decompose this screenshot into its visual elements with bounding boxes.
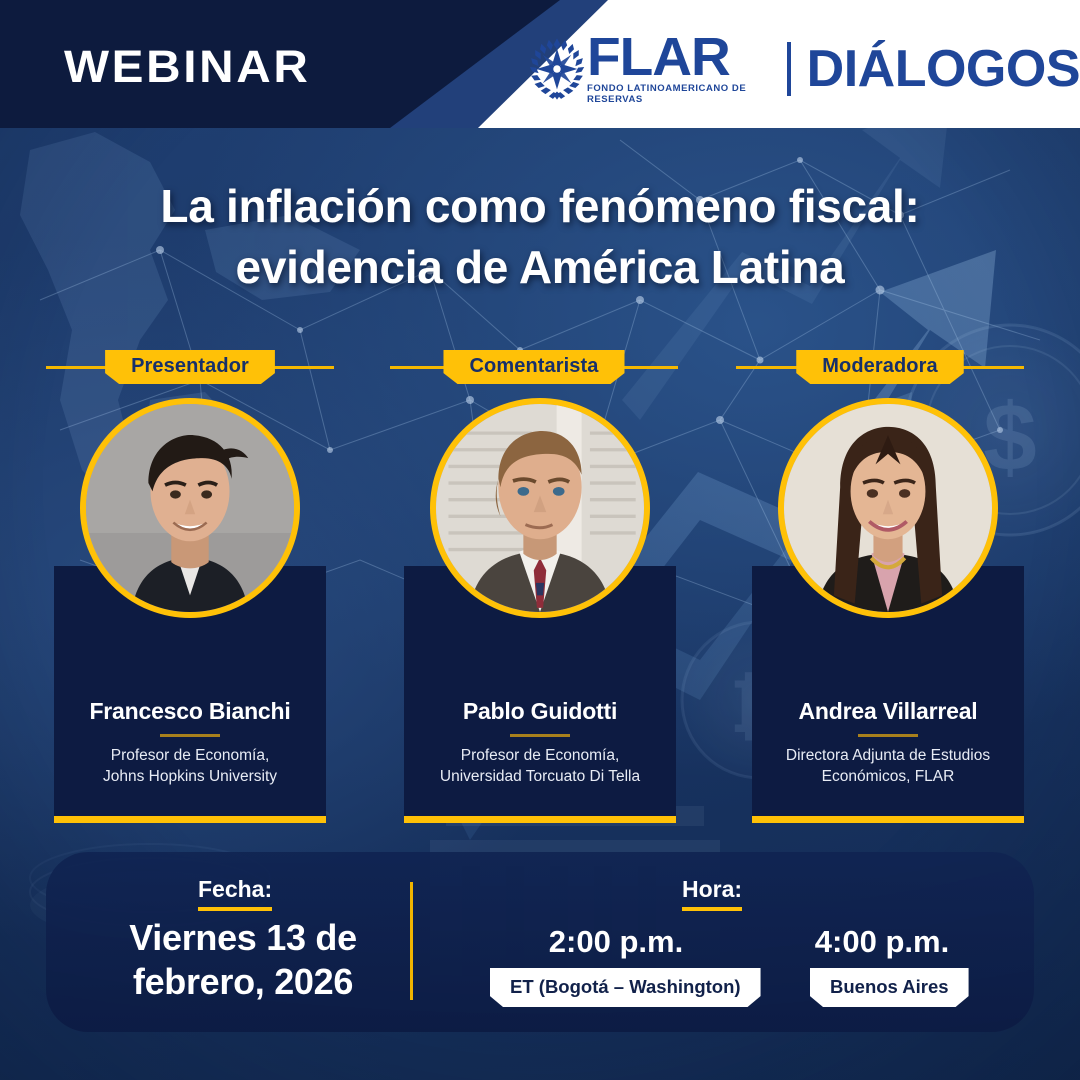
portrait-francesco-bianchi bbox=[86, 404, 294, 612]
time-label: Hora: bbox=[682, 876, 742, 911]
event-date-line-1: Viernes 13 de bbox=[78, 916, 408, 960]
speaker-role: Directora Adjunta de Estudios Económicos… bbox=[758, 746, 1018, 788]
page-title: La inflación como fenómeno fiscal: evide… bbox=[0, 176, 1080, 297]
flar-wordmark-block: FLAR FONDO LATINOAMERICANO DE RESERVAS bbox=[587, 34, 769, 105]
header-bar: WEBINAR bbox=[0, 0, 1080, 128]
event-details-panel: Fecha: Viernes 13 de febrero, 2026 Hora:… bbox=[46, 852, 1034, 1032]
role-badge-comentarista: Comentarista bbox=[443, 350, 624, 384]
flar-compass-laurel-emblem bbox=[523, 35, 591, 103]
speaker-role: Profesor de Economía, Johns Hopkins Univ… bbox=[60, 746, 320, 788]
event-date-line-2: febrero, 2026 bbox=[78, 960, 408, 1004]
speaker-role-line-1: Directora Adjunta de Estudios bbox=[758, 746, 1018, 767]
speaker-gold-bar bbox=[404, 816, 676, 823]
timezone-chip-buenos-aires: Buenos Aires bbox=[810, 968, 969, 1007]
badge-cell-comentarista: Comentarista bbox=[390, 350, 678, 384]
role-badge-moderadora: Moderadora bbox=[796, 350, 963, 384]
speaker-role-line-1: Profesor de Economía, bbox=[60, 746, 320, 767]
avatar-andrea-villarreal bbox=[778, 398, 998, 618]
speaker-name: Andrea Villarreal bbox=[752, 698, 1024, 725]
avatar-pablo-guidotti bbox=[430, 398, 650, 618]
speaker-name-divider bbox=[510, 734, 570, 737]
webinar-label: WEBINAR bbox=[64, 41, 310, 93]
portrait-andrea-villarreal bbox=[784, 404, 992, 612]
role-badges-row: Presentador Comentarista Moderadora bbox=[0, 350, 1080, 384]
speaker-role-line-2: Económicos, FLAR bbox=[758, 767, 1018, 788]
logo-divider bbox=[787, 42, 790, 96]
flar-logo: FLAR FONDO LATINOAMERICANO DE RESERVAS D… bbox=[523, 34, 1080, 105]
role-badge-presentador: Presentador bbox=[105, 350, 275, 384]
title-line-2: evidencia de América Latina bbox=[0, 237, 1080, 298]
speaker-role-line-1: Profesor de Economía, bbox=[410, 746, 670, 767]
badge-cell-presentador: Presentador bbox=[46, 350, 334, 384]
speaker-role-line-2: Universidad Torcuato Di Tella bbox=[410, 767, 670, 788]
speaker-role: Profesor de Economía, Universidad Torcua… bbox=[410, 746, 670, 788]
avatar-francesco-bianchi bbox=[80, 398, 300, 618]
flar-wordmark: FLAR bbox=[587, 34, 773, 82]
title-line-1: La inflación como fenómeno fiscal: bbox=[0, 176, 1080, 237]
time-value-et: 2:00 p.m. bbox=[476, 924, 756, 960]
timezone-chip-et: ET (Bogotá – Washington) bbox=[490, 968, 761, 1007]
badge-cell-moderadora: Moderadora bbox=[736, 350, 1024, 384]
dialogos-wordmark: DIÁLOGOS bbox=[807, 39, 1080, 99]
footer-divider bbox=[410, 882, 413, 1000]
speaker-gold-bar bbox=[54, 816, 326, 823]
event-date: Viernes 13 de febrero, 2026 bbox=[78, 916, 408, 1004]
speaker-gold-bar bbox=[752, 816, 1024, 823]
speaker-role-line-2: Johns Hopkins University bbox=[60, 767, 320, 788]
speaker-name: Pablo Guidotti bbox=[404, 698, 676, 725]
time-value-buenos-aires: 4:00 p.m. bbox=[762, 924, 1002, 960]
speaker-name-divider bbox=[858, 734, 918, 737]
webinar-poster: $ ₿ WEBINAR bbox=[0, 0, 1080, 1080]
portrait-pablo-guidotti bbox=[436, 404, 644, 612]
speaker-name-divider bbox=[160, 734, 220, 737]
date-label: Fecha: bbox=[198, 876, 272, 911]
speaker-name: Francesco Bianchi bbox=[54, 698, 326, 725]
